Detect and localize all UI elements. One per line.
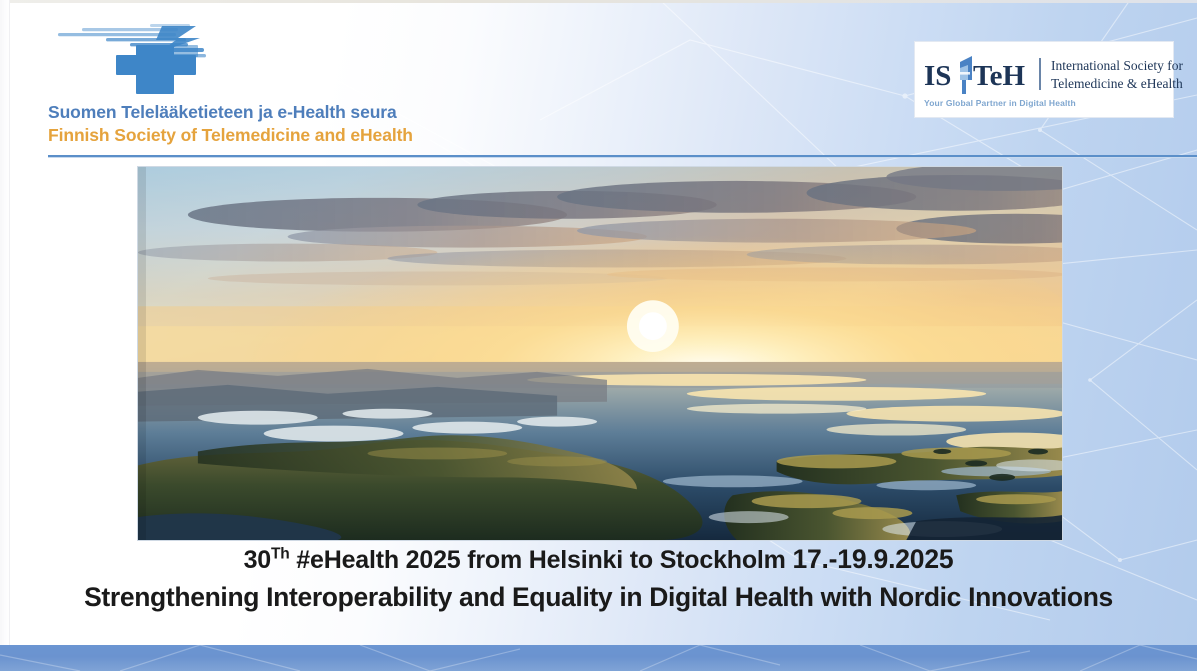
finnish-society-name-en: Finnish Society of Telemedicine and eHea… — [48, 125, 413, 146]
finnish-society-name-fi: Suomen Telelääketieteen ja e-Health seur… — [48, 102, 397, 123]
caption-line-1: 30Th #eHealth 2025 from Helsinki to Stoc… — [0, 544, 1197, 576]
presentation-slide: Suomen Telelääketieteen ja e-Health seur… — [0, 0, 1197, 671]
hero-photo — [137, 166, 1063, 541]
caption-event-dates: 17.-19.9.2025 — [792, 544, 953, 574]
caption-ordinal-suffix: Th — [271, 546, 290, 563]
slide-caption: 30Th #eHealth 2025 from Helsinki to Stoc… — [0, 544, 1197, 613]
finnish-society-logo: Suomen Telelääketieteen ja e-Health seur… — [48, 22, 398, 142]
caption-ordinal-number: 30 — [244, 546, 271, 574]
isfteh-divider — [1039, 58, 1041, 90]
isfteh-logo-card: IS TeH International Society for Telemed… — [914, 41, 1174, 118]
hero-photo-artwork — [138, 167, 1062, 540]
isfteh-subtitle-line2: Telemedicine & eHealth — [1051, 76, 1183, 92]
isfteh-tagline: Your Global Partner in Digital Health — [924, 98, 1076, 108]
footer-blue-band — [0, 645, 1197, 671]
isfteh-wordmark-icon: IS TeH — [924, 56, 1032, 96]
caption-event-title: #eHealth 2025 from Helsinki to Stockholm — [290, 546, 793, 574]
top-hairline — [0, 0, 1197, 3]
header-divider-rule-soft — [48, 157, 1197, 158]
svg-text:IS: IS — [924, 60, 951, 92]
caption-line-2: Strengthening Interoperability and Equal… — [0, 582, 1197, 613]
footer-network-pattern — [0, 645, 1197, 671]
svg-text:TeH: TeH — [973, 60, 1026, 92]
isfteh-subtitle-line1: International Society for — [1051, 58, 1183, 74]
blue-cross-motion-icon — [54, 22, 269, 94]
